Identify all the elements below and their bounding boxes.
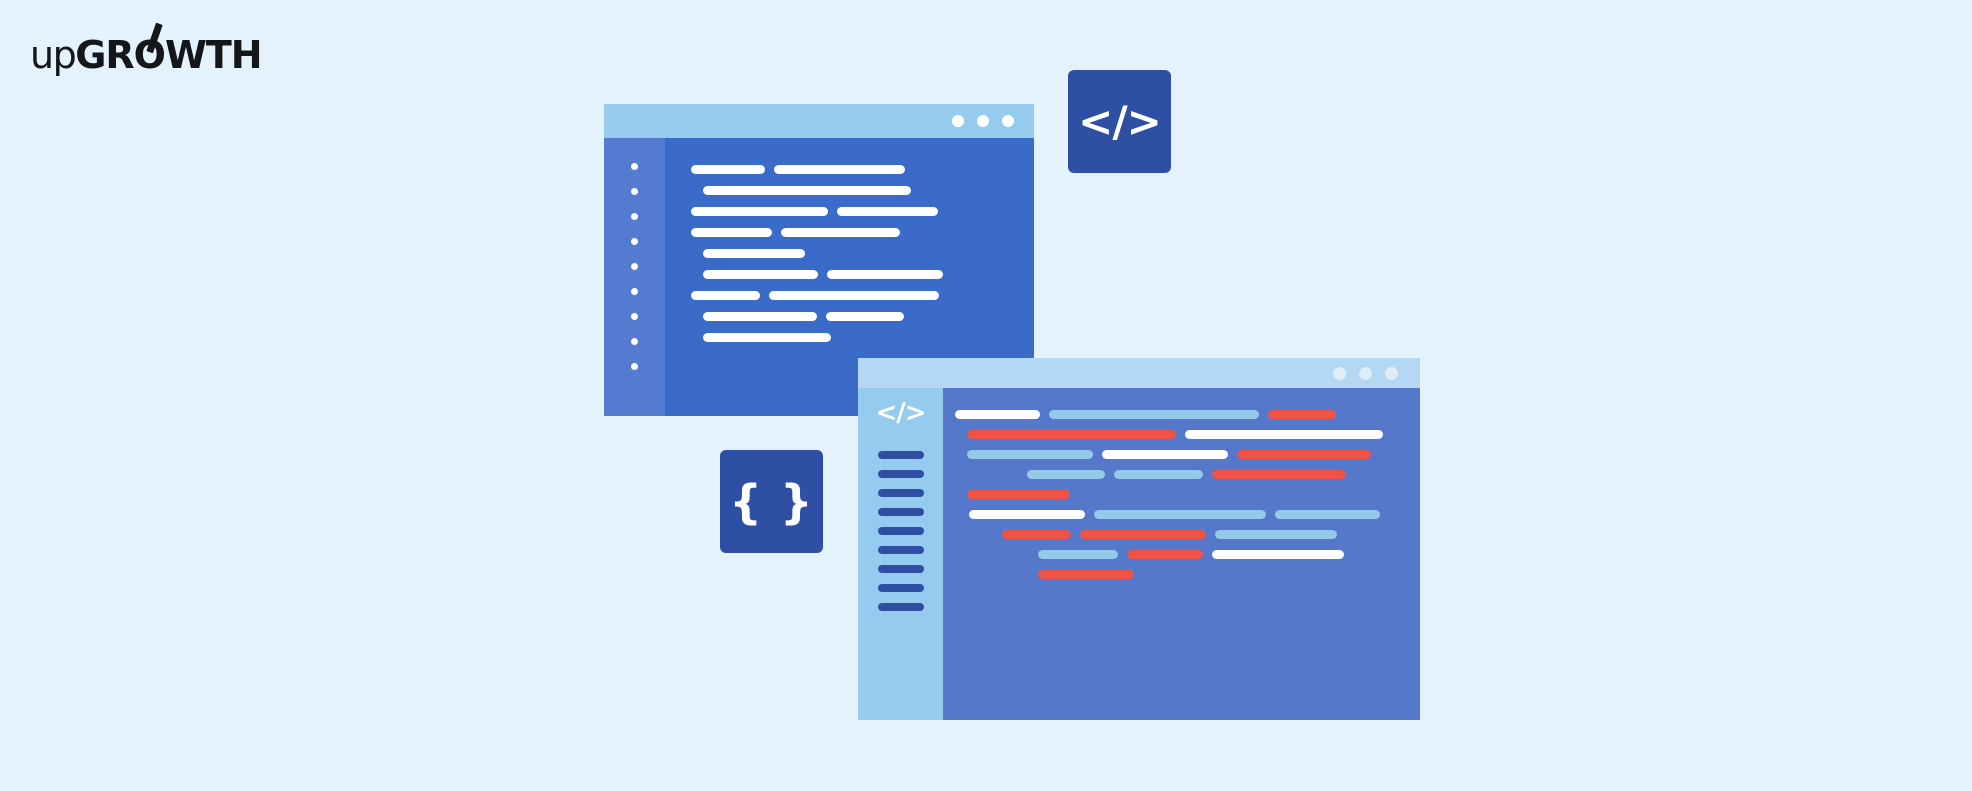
code-token bbox=[1215, 530, 1337, 539]
code-token bbox=[1237, 450, 1371, 459]
code-token bbox=[1212, 470, 1346, 479]
window-back-titlebar[interactable] bbox=[604, 104, 1034, 138]
code-line bbox=[943, 490, 1420, 499]
code-token bbox=[1127, 550, 1203, 559]
curly-brace-icon: { } bbox=[720, 450, 823, 553]
window-control-dot[interactable] bbox=[1385, 367, 1398, 380]
code-token bbox=[826, 312, 904, 321]
code-line bbox=[943, 410, 1420, 419]
gutter-bullet bbox=[631, 213, 638, 220]
code-token bbox=[967, 490, 1070, 499]
window-front-code-area bbox=[943, 388, 1420, 720]
gutter-menu-bar[interactable] bbox=[878, 451, 924, 459]
code-token bbox=[1185, 430, 1383, 439]
coding-illustration: </> { } </> bbox=[0, 0, 1972, 791]
angle-badge-label: </> bbox=[1078, 97, 1161, 146]
gutter-menu-bar[interactable] bbox=[878, 546, 924, 554]
code-token bbox=[1038, 570, 1134, 579]
code-token bbox=[967, 430, 1176, 439]
gutter-bullet bbox=[631, 163, 638, 170]
window-control-dot[interactable] bbox=[1359, 367, 1372, 380]
code-line bbox=[943, 510, 1420, 519]
angle-bracket-icon: </> bbox=[1068, 70, 1171, 173]
code-token bbox=[703, 312, 817, 321]
code-token bbox=[967, 450, 1093, 459]
code-token bbox=[1038, 550, 1118, 559]
code-line bbox=[665, 207, 1034, 216]
window-back-dots bbox=[952, 115, 1014, 127]
window-front-dots bbox=[1333, 367, 1398, 380]
gutter-bullet bbox=[631, 238, 638, 245]
code-token bbox=[837, 207, 938, 216]
gutter-bullet bbox=[631, 338, 638, 345]
code-token bbox=[691, 291, 760, 300]
code-token bbox=[1002, 530, 1071, 539]
window-front-gutter: </> bbox=[858, 388, 943, 720]
code-line bbox=[665, 165, 1034, 174]
gutter-bullet bbox=[631, 263, 638, 270]
code-token bbox=[703, 249, 805, 258]
window-back-gutter bbox=[604, 138, 665, 416]
code-line bbox=[665, 312, 1034, 321]
code-window-front[interactable]: </> bbox=[858, 358, 1420, 720]
code-line bbox=[665, 186, 1034, 195]
gutter-bullet bbox=[631, 288, 638, 295]
code-token bbox=[1212, 550, 1344, 559]
gutter-code-icon: </> bbox=[875, 400, 925, 426]
code-token bbox=[1268, 410, 1336, 419]
window-control-dot[interactable] bbox=[1002, 115, 1014, 127]
gutter-menu-bar[interactable] bbox=[878, 489, 924, 497]
code-line bbox=[665, 291, 1034, 300]
code-token bbox=[703, 186, 911, 195]
code-token bbox=[691, 207, 828, 216]
gutter-bullet bbox=[631, 313, 638, 320]
code-line bbox=[943, 450, 1420, 459]
code-line bbox=[665, 333, 1034, 342]
code-token bbox=[703, 333, 831, 342]
code-token bbox=[1102, 450, 1228, 459]
code-token bbox=[827, 270, 943, 279]
gutter-bullet bbox=[631, 363, 638, 370]
window-control-dot[interactable] bbox=[952, 115, 964, 127]
gutter-menu-bar[interactable] bbox=[878, 470, 924, 478]
brace-badge-label: { } bbox=[729, 475, 814, 529]
code-line bbox=[943, 530, 1420, 539]
window-control-dot[interactable] bbox=[977, 115, 989, 127]
code-token bbox=[1080, 530, 1206, 539]
code-line bbox=[943, 470, 1420, 479]
gutter-menu-bar[interactable] bbox=[878, 565, 924, 573]
code-token bbox=[703, 270, 818, 279]
code-token bbox=[774, 165, 905, 174]
code-token bbox=[691, 228, 772, 237]
gutter-menu-bar[interactable] bbox=[878, 603, 924, 611]
window-front-titlebar[interactable] bbox=[858, 358, 1420, 388]
gutter-menu-bar[interactable] bbox=[878, 508, 924, 516]
gutter-menu-bar[interactable] bbox=[878, 527, 924, 535]
code-line bbox=[943, 430, 1420, 439]
code-line bbox=[665, 249, 1034, 258]
code-token bbox=[1027, 470, 1105, 479]
code-token bbox=[781, 228, 900, 237]
code-token bbox=[969, 510, 1085, 519]
code-token bbox=[769, 291, 939, 300]
window-front-body: </> bbox=[858, 388, 1420, 720]
code-line bbox=[943, 570, 1420, 579]
code-token bbox=[1275, 510, 1380, 519]
code-line bbox=[665, 228, 1034, 237]
code-line bbox=[943, 550, 1420, 559]
code-token bbox=[955, 410, 1040, 419]
gutter-menu-bar[interactable] bbox=[878, 584, 924, 592]
code-token bbox=[1049, 410, 1259, 419]
gutter-bullet bbox=[631, 188, 638, 195]
code-token bbox=[691, 165, 765, 174]
window-control-dot[interactable] bbox=[1333, 367, 1346, 380]
code-line bbox=[665, 270, 1034, 279]
code-token bbox=[1114, 470, 1203, 479]
code-token bbox=[1094, 510, 1266, 519]
